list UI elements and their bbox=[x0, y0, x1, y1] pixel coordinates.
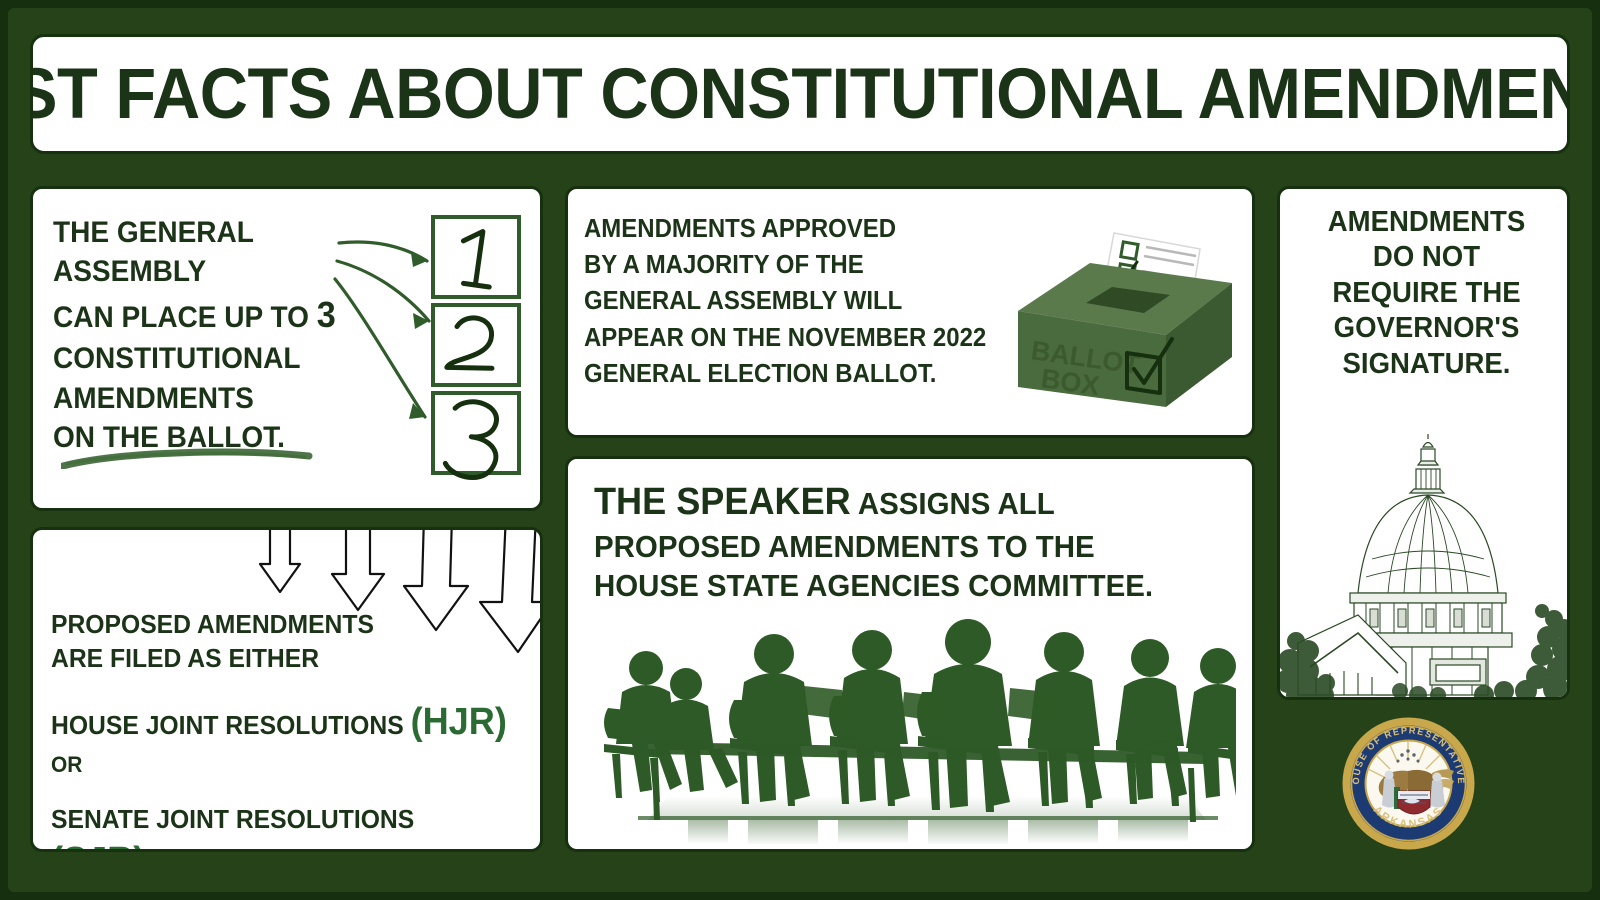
resolutions-line-4: SENATE JOINT RESOLUTIONS (SJR). bbox=[51, 803, 507, 852]
governor-text: AMENDMENTS DO NOT REQUIRE THE GOVERNOR'S… bbox=[1295, 205, 1558, 382]
ballot-line-5: GENERAL ELECTION BALLOT. bbox=[584, 356, 1007, 392]
speaker-line-1: THE SPEAKER ASSIGNS ALL bbox=[594, 479, 1202, 527]
resolutions-text: PROPOSED AMENDMENTS ARE FILED AS EITHER … bbox=[51, 608, 507, 852]
speaker-line-3: HOUSE STATE AGENCIES COMMITTEE. bbox=[594, 566, 1202, 605]
ballot-line-2: BY A MAJORITY OF THE bbox=[584, 247, 1007, 283]
hjr-label: HOUSE JOINT RESOLUTIONS bbox=[51, 710, 404, 740]
sjr-label: SENATE JOINT RESOLUTIONS bbox=[51, 804, 414, 834]
title-panel: FAST FACTS ABOUT CONSTITUTIONAL AMENDMEN… bbox=[30, 34, 1570, 154]
ballot-panel: AMENDMENTS APPROVED BY A MAJORITY OF THE… bbox=[565, 186, 1255, 438]
governor-line-2: DO NOT bbox=[1295, 240, 1558, 275]
assembly-line-2: CAN PLACE UP TO 3 bbox=[53, 291, 367, 339]
governor-line-1: AMENDMENTS bbox=[1295, 205, 1558, 240]
governor-line-3: REQUIRE THE bbox=[1295, 276, 1558, 311]
arkansas-house-seal: HOUSE OF REPRESENTATIVES ARKANSAS bbox=[1340, 715, 1477, 852]
resolutions-line-2: ARE FILED AS EITHER bbox=[51, 642, 507, 676]
resolutions-line-1: PROPOSED AMENDMENTS bbox=[51, 608, 507, 642]
assembly-line-2-text: CAN PLACE UP TO bbox=[53, 301, 309, 334]
text-spacer-2 bbox=[51, 781, 507, 803]
resolutions-line-3: HOUSE JOINT RESOLUTIONS (HJR) OR bbox=[51, 698, 507, 781]
speaker-panel: THE SPEAKER ASSIGNS ALL PROPOSED AMENDME… bbox=[565, 456, 1255, 852]
speaker-text: THE SPEAKER ASSIGNS ALL PROPOSED AMENDME… bbox=[594, 479, 1202, 605]
general-assembly-text: THE GENERAL ASSEMBLY CAN PLACE UP TO 3 C… bbox=[53, 213, 367, 457]
ballot-line-3: GENERAL ASSEMBLY WILL bbox=[584, 283, 1007, 319]
resolutions-panel: PROPOSED AMENDMENTS ARE FILED AS EITHER … bbox=[30, 527, 543, 852]
hjr-or: OR bbox=[51, 752, 82, 777]
ballot-line-1: AMENDMENTS APPROVED bbox=[584, 211, 1007, 247]
governor-line-4: GOVERNOR'S bbox=[1295, 311, 1558, 346]
governor-panel: AMENDMENTS DO NOT REQUIRE THE GOVERNOR'S… bbox=[1277, 186, 1570, 700]
ballot-numbered-boxes-icon bbox=[423, 213, 533, 488]
ballot-line-4: APPEAR ON THE NOVEMBER 2022 bbox=[584, 320, 1007, 356]
underline-swoosh-icon bbox=[61, 447, 313, 469]
infographic-board: FAST FACTS ABOUT CONSTITUTIONAL AMENDMEN… bbox=[8, 8, 1592, 892]
committee-meeting-silhouette bbox=[588, 604, 1236, 844]
state-capitol-dome-illustration bbox=[1280, 433, 1570, 699]
general-assembly-panel: THE GENERAL ASSEMBLY CAN PLACE UP TO 3 C… bbox=[30, 186, 543, 511]
page-title: FAST FACTS ABOUT CONSTITUTIONAL AMENDMEN… bbox=[30, 59, 1570, 130]
ballot-box-icon: BALLOT BOX bbox=[994, 207, 1244, 422]
assembly-line-4: AMENDMENTS bbox=[53, 379, 367, 418]
sjr-abbreviation: (SJR). bbox=[51, 840, 155, 852]
speaker-line-2: PROPOSED AMENDMENTS TO THE bbox=[594, 527, 1202, 566]
assembly-line-1: THE GENERAL ASSEMBLY bbox=[53, 213, 367, 291]
speaker-emphasis: THE SPEAKER bbox=[594, 481, 851, 523]
speaker-line-1-rest: ASSIGNS ALL bbox=[858, 486, 1055, 521]
text-spacer bbox=[51, 676, 507, 698]
governor-line-5: SIGNATURE. bbox=[1295, 347, 1558, 382]
assembly-line-3: CONSTITUTIONAL bbox=[53, 339, 367, 378]
ballot-text: AMENDMENTS APPROVED BY A MAJORITY OF THE… bbox=[584, 211, 1007, 392]
hjr-abbreviation: (HJR) bbox=[411, 701, 507, 743]
